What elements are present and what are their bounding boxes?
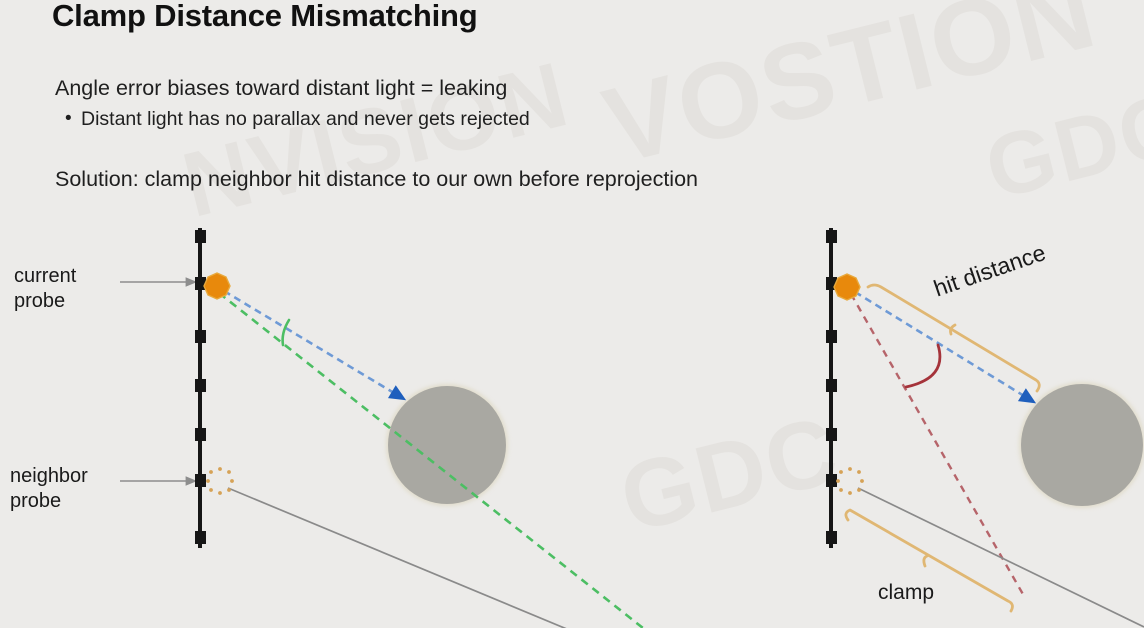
- blue-ray-left: [224, 291, 399, 396]
- wall-tick-right-4: [826, 428, 837, 441]
- wall-tick-left-4: [195, 428, 206, 441]
- figure-diagram: [0, 0, 1144, 628]
- neighbor-probe-marker-right: [836, 467, 864, 495]
- wall-tick-left-6: [195, 531, 206, 544]
- current-probe-marker-left: [204, 273, 230, 299]
- occluder-circle-right: [1021, 384, 1143, 506]
- slide-root: VOSTION NVISION GDC GDC Clamp Distance M…: [0, 0, 1144, 628]
- occluder-circle-left: [388, 386, 506, 504]
- wall-tick-left-3: [195, 379, 206, 392]
- label-clamp: clamp: [878, 580, 934, 607]
- wall-tick-right-0: [826, 230, 837, 243]
- current-probe-marker-right: [834, 274, 860, 300]
- left-panel-group: [120, 228, 648, 628]
- neighbor-probe-marker-left: [206, 467, 234, 495]
- wall-tick-right-5: [826, 474, 837, 487]
- wall-tick-left-5: [195, 474, 206, 487]
- angle-arc-right: [906, 345, 940, 387]
- clamp-brace-tick: [924, 556, 927, 566]
- angle-arc-left: [283, 320, 289, 345]
- wall-tick-right-2: [826, 330, 837, 343]
- red-ray-right: [851, 294, 1024, 596]
- wall-tick-right-6: [826, 531, 837, 544]
- gray-ray-left: [228, 488, 574, 628]
- label-neighbor-probe: neighbor probe: [10, 464, 88, 515]
- hit-distance-brace: [868, 285, 1039, 391]
- label-current-probe: current probe: [14, 264, 76, 315]
- blue-ray-right: [855, 292, 1029, 399]
- wall-tick-left-2: [195, 330, 206, 343]
- wall-tick-left-0: [195, 230, 206, 243]
- wall-tick-right-3: [826, 379, 837, 392]
